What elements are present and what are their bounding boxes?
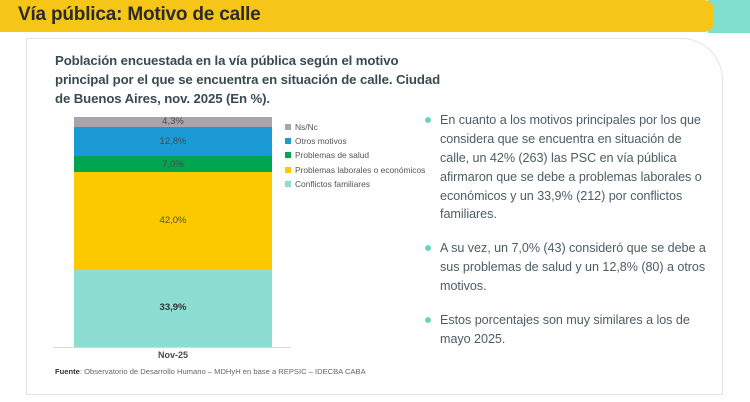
x-axis-tick-label: Nov-25 <box>74 350 272 360</box>
bar-segment-label: 12,8% <box>160 136 187 147</box>
page-title: Vía pública: Motivo de calle <box>18 4 261 26</box>
insight-text: A su vez, un 7,0% (43) consideró que se … <box>440 239 710 296</box>
chart-panel: Población encuestada en la vía pública s… <box>55 51 445 108</box>
x-axis-line <box>53 347 291 348</box>
legend-item-label: Ns/Nc <box>295 122 318 132</box>
legend-item-label: Otros motivos <box>295 136 347 146</box>
bullet-dot-icon <box>425 317 431 323</box>
insight-item: En cuanto a los motivos principales por … <box>425 111 710 224</box>
bar-segment-problemas-laborales[interactable]: 42,0% <box>74 172 272 269</box>
source-note: Fuente: Observatorio de Desarrollo Human… <box>55 367 366 376</box>
legend-swatch-icon <box>285 181 291 187</box>
bar-segment-problemas-de-salud[interactable]: 7,0% <box>74 156 272 172</box>
bullet-dot-icon <box>425 117 431 123</box>
insight-item: Estos porcentajes son muy similares a lo… <box>425 311 710 349</box>
legend-swatch-icon <box>285 152 291 158</box>
header-accent-strip <box>708 0 750 33</box>
legend-item-label: Problemas laborales o económicos <box>295 165 425 175</box>
insight-text: En cuanto a los motivos principales por … <box>440 111 710 224</box>
bar-segment-label: 4,3% <box>162 116 184 127</box>
content-card: Población encuestada en la vía pública s… <box>26 38 723 395</box>
bar-segment-label: 42,0% <box>160 215 187 226</box>
legend-item-label: Conflictos familiares <box>295 179 370 189</box>
stacked-bar-column[interactable]: 4,3% 12,8% 7,0% 42,0% 33,9% <box>74 117 272 347</box>
bar-segment-otros-motivos[interactable]: 12,8% <box>74 127 272 156</box>
insights-panel: En cuanto a los motivos principales por … <box>425 111 710 364</box>
bar-segment-ns-nc[interactable]: 4,3% <box>74 117 272 127</box>
insight-item: A su vez, un 7,0% (43) consideró que se … <box>425 239 710 296</box>
bullet-dot-icon <box>425 245 431 251</box>
source-label: Fuente <box>55 367 80 376</box>
header-band: Vía pública: Motivo de calle <box>0 0 714 32</box>
bar-segment-conflictos-familiares[interactable]: 33,9% <box>74 269 272 347</box>
source-text: : Observatorio de Desarrollo Humano – MD… <box>80 367 366 376</box>
bar-segment-label: 7,0% <box>162 159 184 170</box>
insight-text: Estos porcentajes son muy similares a lo… <box>440 311 710 349</box>
legend-swatch-icon <box>285 138 291 144</box>
legend-swatch-icon <box>285 124 291 130</box>
chart-caption: Población encuestada en la vía pública s… <box>55 51 445 108</box>
legend-item-label: Problemas de salud <box>295 150 369 160</box>
bar-segment-label: 33,9% <box>160 302 187 313</box>
legend-swatch-icon <box>285 167 291 173</box>
